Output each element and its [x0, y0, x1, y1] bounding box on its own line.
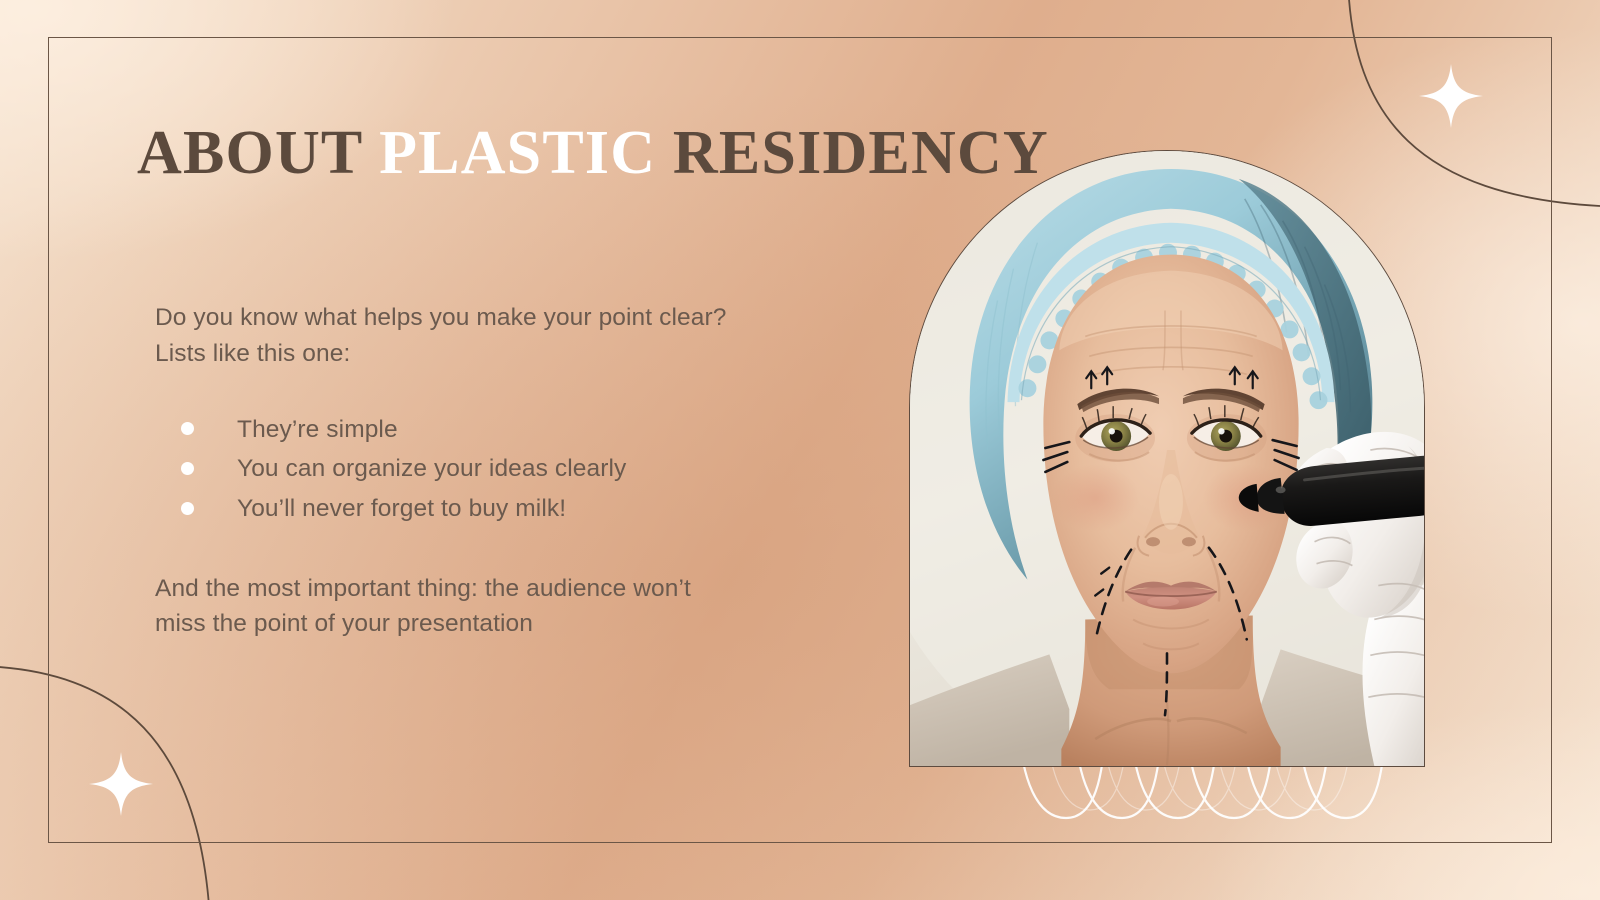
list-item: They’re simple [181, 410, 855, 450]
list-item-label: You’ll never forget to buy milk! [237, 495, 566, 522]
closing-line-1: And the most important thing: the audien… [155, 575, 691, 602]
closing-paragraph: And the most important thing: the audien… [155, 571, 855, 643]
bullet-dot-icon [181, 422, 194, 435]
body-content: Do you know what helps you make your poi… [155, 300, 855, 642]
title-segment-residency: RESIDENCY [673, 119, 1049, 187]
portrait-photo-frame [909, 150, 1425, 767]
title-segment-about: ABOUT [137, 119, 379, 187]
slide: ABOUT PLASTIC RESIDENCY Do you know what… [0, 0, 1600, 900]
intro-line-2: Lists like this one: [155, 340, 350, 367]
closing-line-2: miss the point of your presentation [155, 610, 533, 637]
list-item: You’ll never forget to buy milk! [181, 489, 855, 529]
portrait-photo [910, 151, 1424, 766]
benefits-bullet-list: They’re simple You can organize your ide… [155, 410, 855, 529]
intro-line-1: Do you know what helps you make your poi… [155, 304, 726, 331]
list-item-label: You can organize your ideas clearly [237, 455, 626, 482]
intro-paragraph: Do you know what helps you make your poi… [155, 300, 855, 372]
bullet-dot-icon [181, 462, 194, 475]
list-item-label: They’re simple [237, 416, 398, 443]
title-segment-plastic: PLASTIC [379, 119, 673, 187]
bullet-dot-icon [181, 502, 194, 515]
page-title: ABOUT PLASTIC RESIDENCY [137, 121, 1049, 187]
list-item: You can organize your ideas clearly [181, 449, 855, 489]
